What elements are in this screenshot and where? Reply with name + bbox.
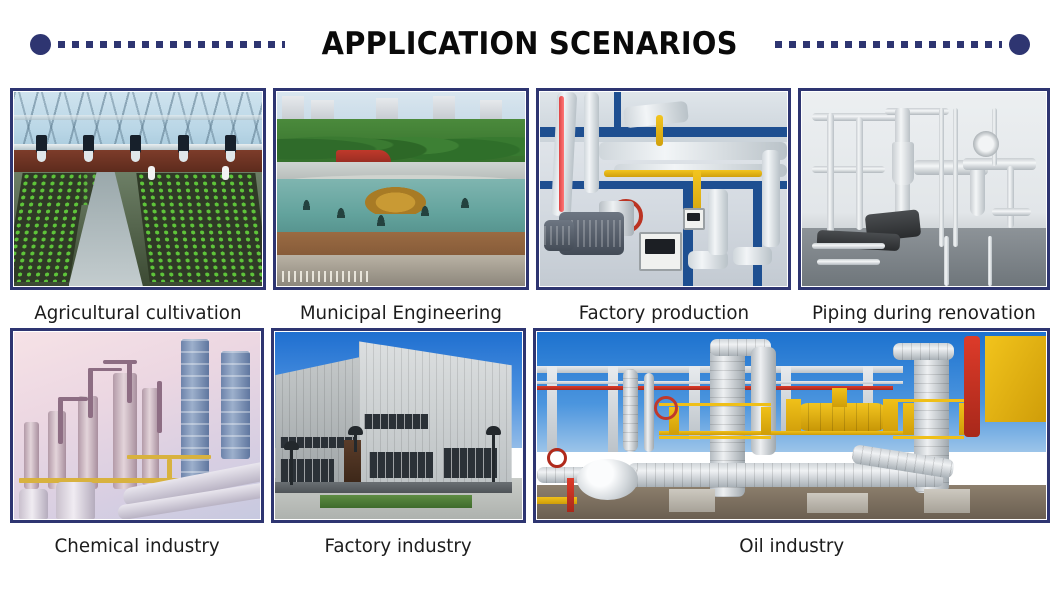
card-caption: Municipal Engineering — [278, 290, 524, 323]
photo-frame — [271, 328, 525, 523]
card-caption: Chemical industry — [15, 523, 259, 556]
scenario-card-piping-during-renovation[interactable]: Piping during renovation — [798, 88, 1050, 323]
scenario-row-2: Chemical industry — [10, 328, 1050, 556]
header-divider-row: APPLICATION SCENARIOS — [30, 26, 1030, 62]
factory-building-photo — [275, 332, 521, 519]
oil-pipeline-photo — [537, 332, 1046, 519]
card-caption: Factory production — [541, 290, 787, 323]
photo-frame — [10, 88, 266, 290]
factory-production-photo — [540, 92, 788, 286]
greenhouse-photo — [14, 92, 262, 286]
renovation-piping-photo — [802, 92, 1046, 286]
card-caption: Piping during renovation — [803, 290, 1045, 323]
municipal-park-photo — [277, 92, 525, 286]
photo-frame — [536, 88, 792, 290]
circle-bullet-icon-left — [30, 34, 51, 55]
chemical-refinery-photo — [14, 332, 260, 519]
scenario-card-oil-industry[interactable]: Oil industry — [533, 328, 1050, 556]
photo-frame — [533, 328, 1050, 523]
scenario-row-1: Agricultural cultivation — [10, 88, 1050, 323]
photo-frame — [798, 88, 1050, 290]
dotted-divider-left — [58, 41, 285, 48]
card-caption: Agricultural cultivation — [15, 290, 261, 323]
photo-frame — [273, 88, 529, 290]
scenario-card-chemical-industry[interactable]: Chemical industry — [10, 328, 264, 556]
scenario-grid: Agricultural cultivation — [10, 88, 1050, 556]
dotted-divider-right — [775, 41, 1002, 48]
card-caption: Oil industry — [543, 523, 1040, 556]
page-header: APPLICATION SCENARIOS — [0, 0, 1060, 88]
page-title: APPLICATION SCENARIOS — [309, 26, 751, 62]
scenario-card-factory-industry[interactable]: Factory industry — [271, 328, 525, 556]
scenario-card-municipal-engineering[interactable]: Municipal Engineering — [273, 88, 529, 323]
scenario-card-factory-production[interactable]: Factory production — [536, 88, 792, 323]
circle-bullet-icon-right — [1009, 34, 1030, 55]
card-caption: Factory industry — [276, 523, 520, 556]
scenario-card-agricultural-cultivation[interactable]: Agricultural cultivation — [10, 88, 266, 323]
photo-frame — [10, 328, 264, 523]
